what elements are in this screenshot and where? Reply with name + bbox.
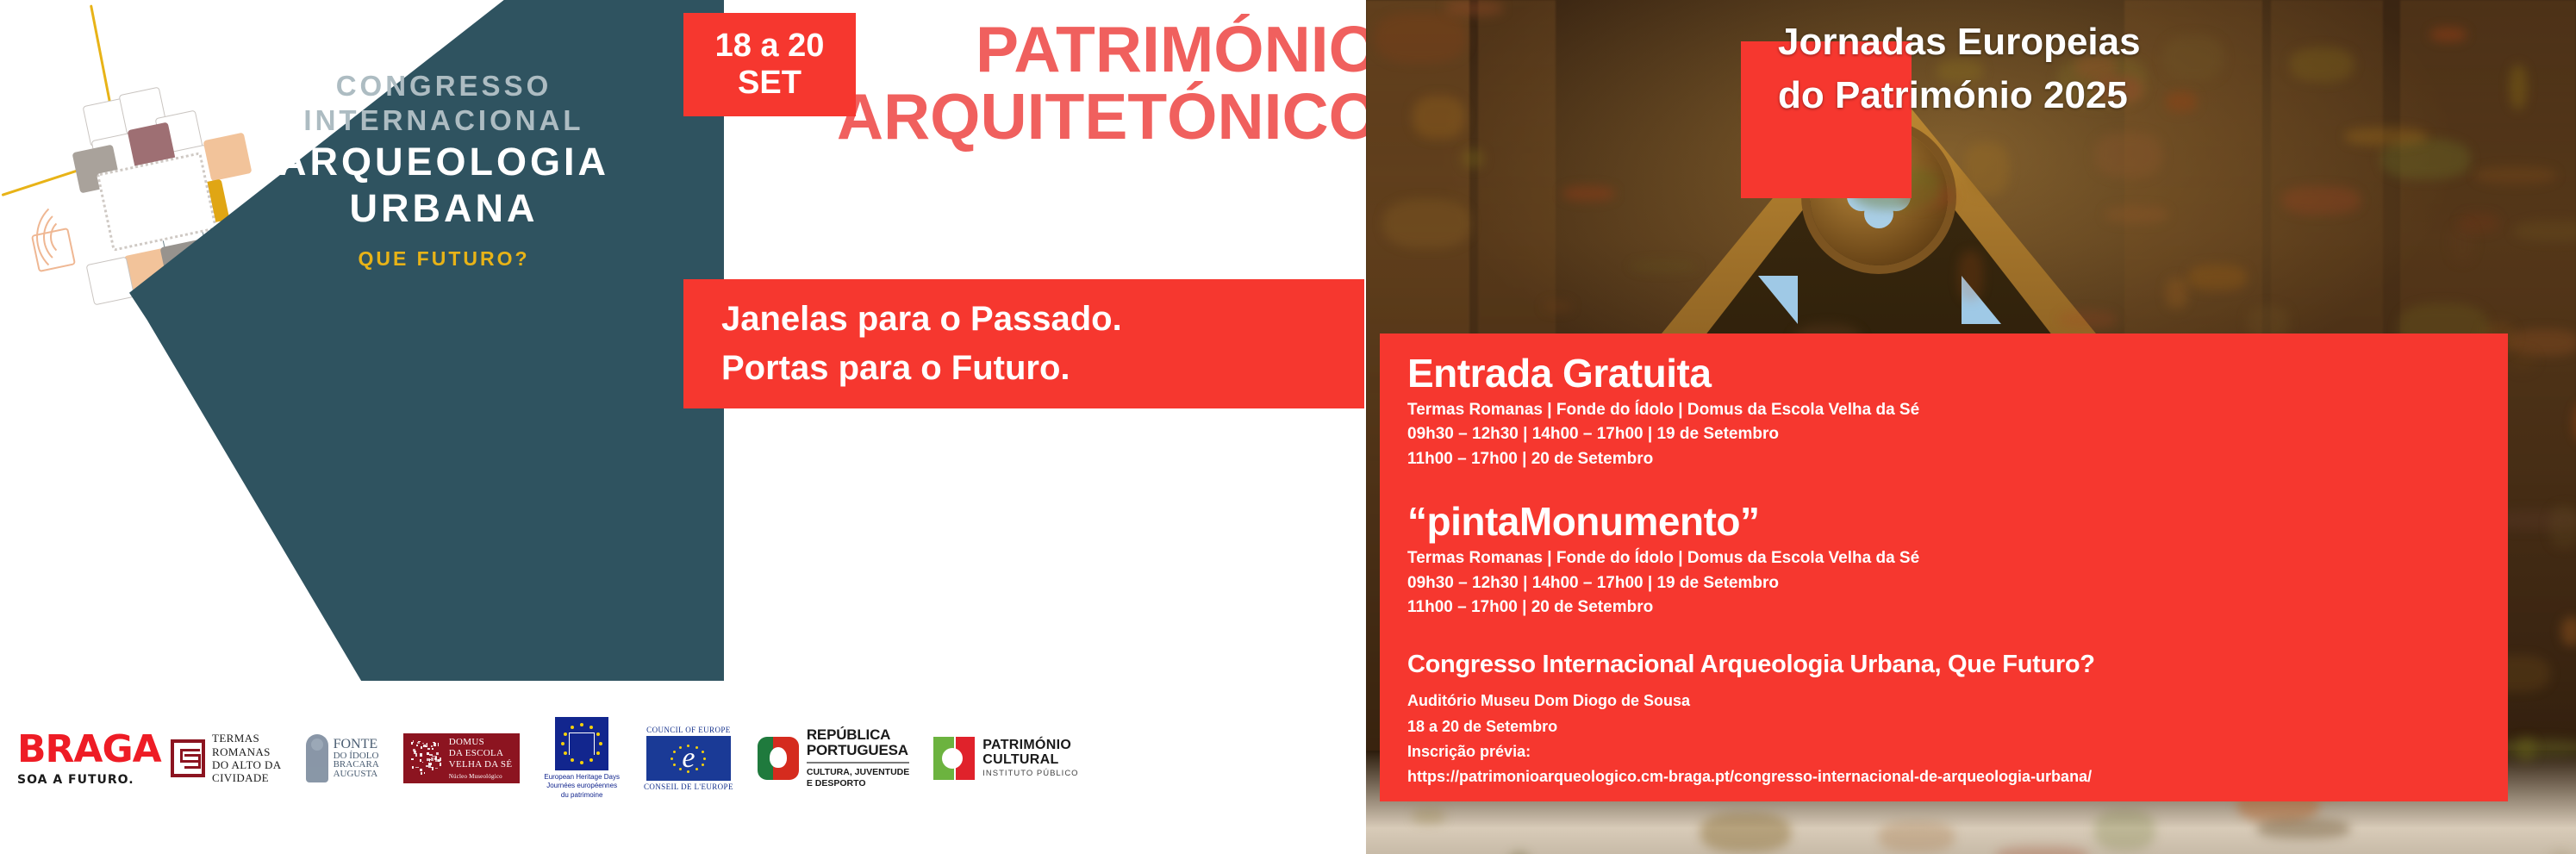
greek-key-icon — [171, 739, 205, 777]
domus-mosaic-dot — [415, 753, 417, 756]
domus-mosaic-dot — [421, 746, 422, 749]
ehd-caption-3: du patrimoine — [544, 791, 620, 800]
coe-star — [703, 757, 706, 760]
congress-line-3: ARQUEOLOGIA — [259, 139, 629, 186]
domus-mosaic-dot — [433, 743, 436, 746]
domus-mosaic-dot — [432, 748, 433, 750]
termas-line-1: TERMAS — [212, 732, 282, 745]
jornadas-heading: Jornadas Europeias do Património 2025 — [1778, 16, 2554, 123]
republica-line-1: REPÚBLICA — [807, 727, 909, 743]
congress-line-2: INTERNACIONAL — [259, 103, 629, 138]
eu-star — [589, 726, 593, 729]
portugal-shield-icon — [758, 737, 799, 780]
congress-line-4: URBANA — [259, 185, 629, 233]
domus-line-4: Núcleo Museológico — [449, 773, 513, 780]
slogan-line-1: Janelas para o Passado. — [721, 295, 1364, 344]
domus-line-2: DA ESCOLA — [449, 748, 513, 759]
mosaic-tile — [203, 133, 253, 182]
coe-star — [702, 751, 704, 753]
domus-mosaic-dot — [417, 742, 419, 744]
sky-triangle-right — [1962, 276, 2001, 324]
eu-star — [564, 732, 567, 736]
pinta-places: Termas Romanas | Fonde do Ídolo | Domus … — [1407, 546, 2482, 571]
fonte-line-4: AUGUSTA — [334, 770, 379, 779]
domus-mosaic-dot — [429, 754, 433, 756]
logo-braga: BRAGA SOA A FUTURO. — [17, 731, 147, 787]
eu-star — [571, 726, 574, 729]
domus-mosaic-dot — [438, 743, 439, 746]
coe-star — [673, 764, 676, 766]
domus-mosaic-dot — [413, 749, 415, 751]
congress-info-title: Congresso Internacional Arqueologia Urba… — [1407, 651, 2482, 679]
left-white-panel: CONGRESSO INTERNACIONAL ARQUEOLOGIA URBA… — [0, 0, 1366, 854]
pinta-title: “pintaMonumento” — [1407, 501, 2482, 543]
domus-mosaic-dot — [431, 745, 433, 747]
logo-domus-escola-velha: DOMUS DA ESCOLA VELHA DA SÉ Núcleo Museo… — [403, 733, 521, 783]
republica-sub-2: E DESPORTO — [807, 778, 909, 789]
eu-star — [599, 742, 602, 745]
pinta-hours-1: 09h30 – 12h30 | 14h00 – 17h00 | 19 de Se… — [1407, 571, 2482, 596]
fonte-text: FONTE DO ÍDOLO BRACARA AUGUSTA — [334, 738, 379, 779]
coe-star — [673, 751, 676, 753]
domus-mosaic-dot — [415, 767, 419, 768]
braga-wordmark: BRAGA — [17, 731, 161, 769]
domus-mosaic-dot — [413, 740, 414, 743]
patrimonio-cultural-icon — [933, 737, 975, 780]
eu-star — [589, 758, 593, 762]
republica-divider — [807, 762, 909, 764]
termas-line-2: ROMANAS — [212, 745, 282, 758]
logo-fonte-do-idolo: FONTE DO ÍDOLO BRACARA AUGUSTA — [306, 734, 379, 782]
coe-top-label: COUNCIL OF EUROPE — [644, 726, 733, 734]
domus-mosaic-dot — [411, 758, 414, 760]
ehd-caption: European Heritage Days Journées européen… — [544, 773, 620, 800]
domus-mosaic-dot — [422, 762, 423, 764]
logo-european-heritage-days: European Heritage Days Journées européen… — [544, 717, 620, 800]
footer-logo-strip: BRAGA SOA A FUTURO. TERMAS ROMANAS DO AL… — [17, 698, 1241, 819]
heritage-monument-icon — [569, 732, 595, 755]
patrimonio-sub: INSTITUTO PÚBLICO — [982, 769, 1078, 778]
fonte-line-1: FONTE — [334, 738, 379, 751]
domus-mosaic-dot — [426, 765, 428, 767]
date-badge-month: SET — [738, 65, 801, 102]
coe-bottom-label: CONSEIL DE L'EUROPE — [644, 782, 733, 791]
termas-line-3: DO ALTO DA — [212, 758, 282, 771]
congress-registration-label: Inscrição prévia: — [1407, 739, 2482, 764]
congress-registration-url[interactable]: https://patrimonioarqueologico.cm-braga.… — [1407, 764, 2482, 789]
republica-line-2: PORTUGUESA — [807, 743, 909, 758]
domus-line-1: DOMUS — [449, 737, 513, 748]
coe-flag-icon: e — [646, 736, 731, 781]
date-badge-range: 18 a 20 — [715, 28, 825, 65]
coe-star — [702, 764, 704, 766]
stone-texture-blotch — [1562, 186, 1615, 202]
domus-mosaic-dot — [435, 768, 438, 769]
coe-star — [671, 757, 673, 760]
sky-triangle-left — [1758, 276, 1798, 324]
domus-mosaic-dot — [423, 746, 424, 748]
logo-council-of-europe: COUNCIL OF EUROPE e CONSEIL DE L'EUROPE — [644, 726, 733, 791]
domus-mosaic-dot — [427, 758, 430, 761]
braga-tagline: SOA A FUTURO. — [17, 773, 161, 787]
ehd-caption-1: European Heritage Days — [544, 773, 620, 782]
domus-mosaic-dot — [440, 757, 441, 760]
congress-venue: Auditório Museu Dom Diogo de Sousa — [1407, 689, 2482, 714]
logo-patrimonio-cultural: PATRIMÓNIO CULTURAL INSTITUTO PÚBLICO — [933, 737, 1078, 780]
domus-mosaic-icon — [409, 740, 444, 776]
domus-mosaic-dot — [420, 759, 422, 761]
domus-mosaic-dot — [434, 757, 436, 760]
entrada-hours-2: 11h00 – 17h00 | 20 de Setembro — [1407, 447, 2482, 472]
domus-mosaic-dot — [434, 743, 435, 744]
domus-mosaic-dot — [431, 757, 433, 761]
coe-star — [679, 746, 682, 749]
domus-mosaic-dot — [416, 745, 418, 747]
date-badge: 18 a 20 SET — [683, 13, 856, 116]
eu-star — [596, 751, 600, 755]
logo-termas-romanas: TERMAS ROMANAS DO ALTO DA CIVIDADE — [171, 732, 282, 784]
jornadas-line-1: Jornadas Europeias — [1778, 16, 2554, 69]
termas-line-4: CIVIDADE — [212, 771, 282, 784]
congress-logo-block: CONGRESSO INTERNACIONAL ARQUEOLOGIA URBA… — [259, 69, 629, 271]
ehd-caption-2: Journées européennes — [544, 782, 620, 790]
domus-mosaic-dot — [427, 748, 430, 750]
eu-star — [571, 758, 574, 762]
congress-tagline: QUE FUTURO? — [259, 246, 629, 271]
domus-mosaic-dot — [424, 772, 425, 774]
domus-mosaic-dot — [420, 753, 422, 757]
patrimonio-line-1: PATRIMÓNIO — [982, 739, 1078, 753]
coe-star — [695, 768, 698, 770]
event-info-panel: Entrada Gratuita Termas Romanas | Fonde … — [1380, 333, 2508, 801]
entrada-title: Entrada Gratuita — [1407, 352, 2482, 395]
pinta-hours-2: 11h00 – 17h00 | 20 de Setembro — [1407, 595, 2482, 620]
slogan-block: Janelas para o Passado. Portas para o Fu… — [683, 279, 1364, 408]
domus-mosaic-dot — [411, 742, 413, 745]
eu-star — [561, 742, 564, 745]
domus-mosaic-dot — [412, 766, 413, 769]
entrada-places: Termas Romanas | Fonde do Ídolo | Domus … — [1407, 398, 2482, 423]
domus-mosaic-dot — [428, 763, 431, 765]
eu-star — [580, 761, 583, 764]
domus-mosaic-dot — [421, 772, 421, 776]
domus-line-3: VELHA DA SÉ — [449, 759, 513, 770]
eu-star — [596, 732, 600, 736]
eu-star — [580, 723, 583, 726]
eu-star — [564, 751, 567, 755]
patrimonio-line-2: CULTURAL — [982, 753, 1078, 768]
logo-republica-portuguesa: REPÚBLICA PORTUGUESA CULTURA, JUVENTUDE … — [758, 727, 909, 789]
eu-stars-flag-icon — [555, 717, 608, 770]
coe-star — [695, 746, 698, 749]
sound-wave-arc-3 — [36, 196, 117, 277]
congress-dates: 18 a 20 de Setembro — [1407, 714, 2482, 739]
domus-mosaic-dot — [440, 763, 441, 765]
termas-text: TERMAS ROMANAS DO ALTO DA CIVIDADE — [212, 732, 282, 784]
republica-sub-1: CULTURA, JUVENTUDE — [807, 767, 909, 778]
entrada-hours-1: 09h30 – 12h30 | 14h00 – 17h00 | 19 de Se… — [1407, 422, 2482, 447]
congress-line-1: CONGRESSO — [259, 69, 629, 103]
slogan-line-2: Portas para o Futuro. — [721, 344, 1364, 393]
jornadas-line-2: do Património 2025 — [1778, 69, 2554, 122]
statue-icon — [306, 734, 328, 782]
domus-mosaic-dot — [436, 752, 439, 756]
domus-mosaic-dot — [431, 767, 433, 768]
